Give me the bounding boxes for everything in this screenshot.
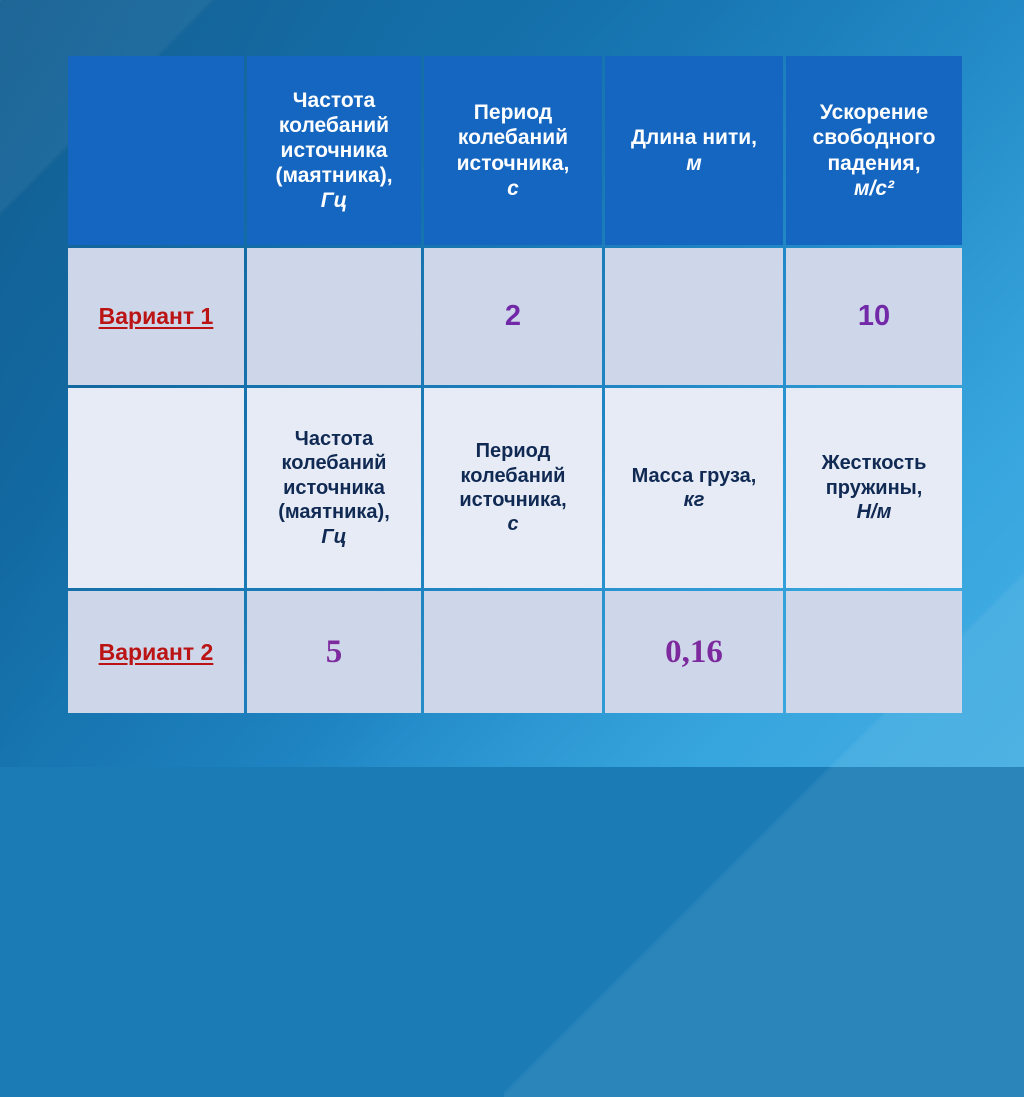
- variant-1-gravity-cell: 10: [786, 248, 962, 385]
- variant-2-label: Вариант 2: [99, 639, 214, 665]
- variant-2-period-cell: [424, 591, 602, 713]
- header-string-length-quantity: Длина нити: [631, 126, 751, 149]
- variant-2-mass-cell: 0,16: [605, 591, 783, 713]
- header-gravity-unit: м/с²: [790, 176, 958, 201]
- table-row-variant-2: Вариант 2 5 0,16: [68, 591, 962, 713]
- subheader-period-quantity: Период колебаний источника: [459, 440, 565, 511]
- subheader-cell-corner: [68, 388, 244, 588]
- data-table: Частота колебаний источника (маятника),Г…: [65, 53, 965, 716]
- variant-1-period-value: 2: [505, 300, 521, 332]
- variant-2-stiffness-cell: [786, 591, 962, 713]
- header-corner-blank: [72, 150, 240, 151]
- subheader-cell-frequency: Частота колебаний источника (маятника),Г…: [247, 388, 421, 588]
- subheader-stiffness-quantity: Жесткость пружины: [822, 452, 927, 498]
- variant-1-gravity-value: 10: [858, 300, 890, 332]
- variant-1-string-length-cell: [605, 248, 783, 385]
- variant-2-label-cell: Вариант 2: [68, 591, 244, 713]
- table-row-header: Частота колебаний источника (маятника),Г…: [68, 56, 962, 245]
- variant-2-frequency-value: 5: [326, 634, 343, 670]
- subheader-cell-mass: Масса груза,кг: [605, 388, 783, 588]
- subheader-frequency-unit: Гц: [251, 525, 417, 549]
- subheader-frequency-quantity: Частота колебаний источника (маятника): [278, 428, 386, 523]
- header-cell-frequency: Частота колебаний источника (маятника),Г…: [247, 56, 421, 245]
- variant-1-label-cell: Вариант 1: [68, 248, 244, 385]
- subheader-stiffness-unit: Н/м: [790, 500, 958, 524]
- subheader-cell-stiffness: Жесткость пружины,Н/м: [786, 388, 962, 588]
- variant-1-period-cell: 2: [424, 248, 602, 385]
- subheader-period-unit: с: [428, 512, 598, 536]
- table-row-variant-1: Вариант 1 2 10: [68, 248, 962, 385]
- header-frequency-unit: Гц: [251, 188, 417, 213]
- header-cell-gravity: Ускорение свободного падения,м/с²: [786, 56, 962, 245]
- header-string-length-unit: м: [609, 151, 779, 176]
- header-cell-period: Период колебаний источника,с: [424, 56, 602, 245]
- variant-1-label: Вариант 1: [99, 303, 214, 329]
- subheader-corner-blank: [72, 488, 240, 489]
- header-cell-string-length: Длина нити,м: [605, 56, 783, 245]
- subheader-mass-quantity: Масса груза: [632, 465, 751, 487]
- subheader-cell-period: Период колебаний источника,с: [424, 388, 602, 588]
- physics-pendulum-table: Частота колебаний источника (маятника),Г…: [65, 53, 957, 713]
- header-gravity-quantity: Ускорение свободного падения: [813, 101, 936, 174]
- table-row-subheader: Частота колебаний источника (маятника),Г…: [68, 388, 962, 588]
- header-period-unit: с: [428, 176, 598, 201]
- header-frequency-quantity: Частота колебаний источника (маятника): [275, 89, 389, 188]
- header-period-quantity: Период колебаний источника: [457, 101, 568, 174]
- header-cell-corner: [68, 56, 244, 245]
- variant-1-frequency-cell: [247, 248, 421, 385]
- variant-2-frequency-cell: 5: [247, 591, 421, 713]
- variant-2-mass-value: 0,16: [665, 634, 723, 670]
- subheader-mass-unit: кг: [609, 488, 779, 512]
